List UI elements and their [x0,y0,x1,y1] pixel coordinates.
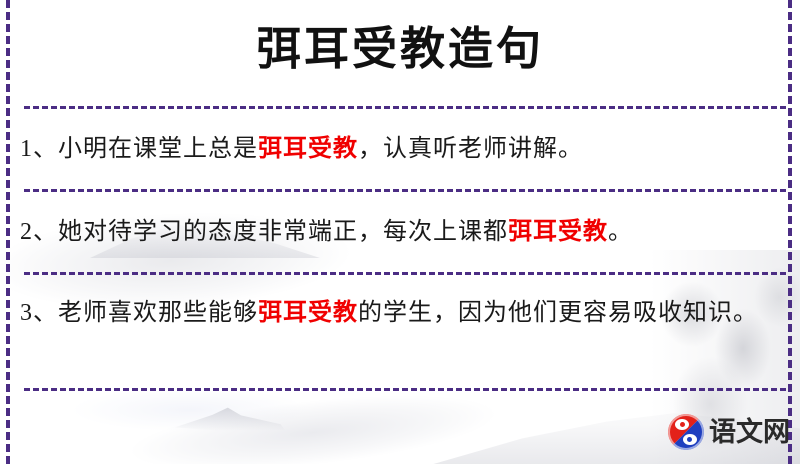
idiom-highlight-1: 弭耳受教 [258,136,358,162]
sentence-item-2: 2、她对待学习的态度非常端正，每次上课都弭耳受教。 [20,211,772,253]
emblem-ring [668,414,704,450]
separator-line-4 [24,388,786,391]
idiom-highlight-2: 弭耳受教 [508,219,608,245]
sentence-text-before-1: 小明在课堂上总是 [58,136,258,162]
brand-name-text: 语文网 [709,419,790,446]
sentence-number-2: 2、 [20,219,58,245]
sentence-text-after-3: 的学生，因为他们更容易吸收知识。 [358,300,758,326]
sentence-number-1: 1、 [20,136,58,162]
sentence-number-3: 3、 [20,300,58,326]
sentence-text-before-3: 老师喜欢那些能够 [58,300,258,326]
sentence-item-1: 1、小明在课堂上总是弭耳受教，认真听老师讲解。 [20,128,772,170]
brand-emblem-icon [668,414,704,450]
background-wash-lower [116,368,553,464]
idiom-highlight-3: 弭耳受教 [258,300,358,326]
sentence-text-before-2: 她对待学习的态度非常端正，每次上课都 [58,219,508,245]
sentence-text-after-2: 。 [608,219,633,245]
worksheet-page: 弭耳受教造句 1、小明在课堂上总是弭耳受教，认真听老师讲解。 2、她对待学习的态… [0,0,800,464]
sentence-item-3: 3、老师喜欢那些能够弭耳受教的学生，因为他们更容易吸收知识。 [20,292,772,334]
sentence-text-after-1: ，认真听老师讲解。 [358,136,583,162]
separator-line-1 [24,106,786,109]
background-boat [175,405,285,431]
separator-line-2 [24,189,786,192]
page-title: 弭耳受教造句 [0,24,800,76]
separator-line-3 [24,272,786,275]
site-watermark-logo: 语文网 [668,414,790,450]
